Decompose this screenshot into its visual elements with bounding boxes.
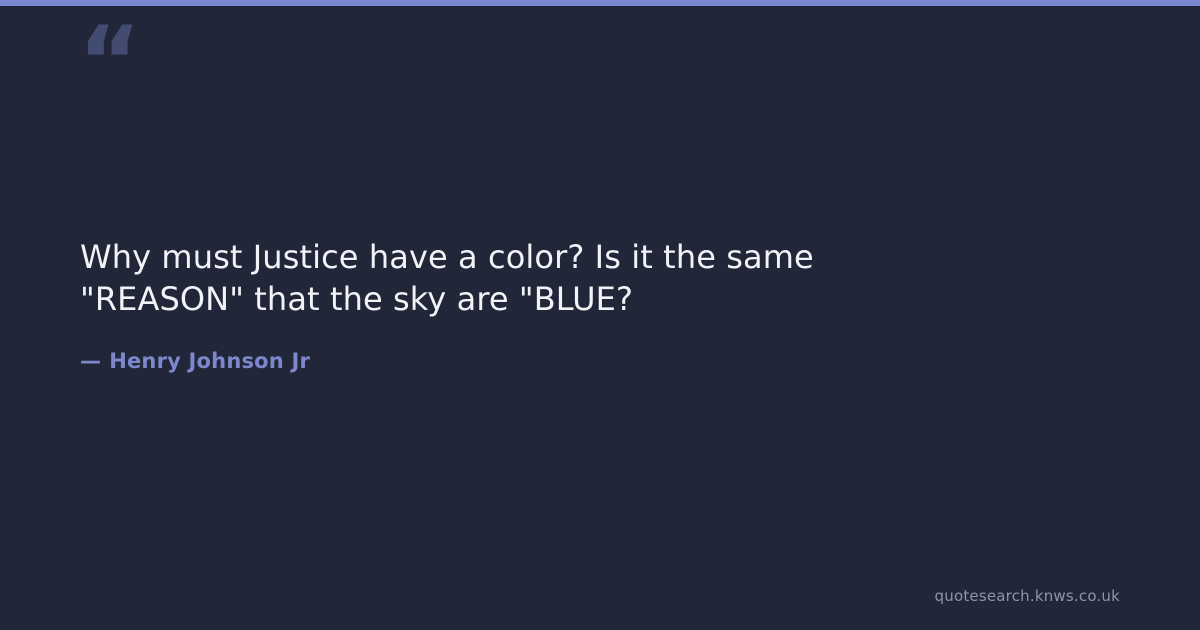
attribution-author: Henry Johnson Jr [109,349,310,373]
opening-quote-mark-icon: “ [78,14,139,110]
attribution-dash: — [80,347,101,375]
top-accent-bar [0,0,1200,6]
quote-card: “ Why must Justice have a color? Is it t… [0,0,1200,630]
quote-content-block: Why must Justice have a color? Is it the… [80,236,1080,375]
quote-text: Why must Justice have a color? Is it the… [80,236,960,320]
quote-attribution: —Henry Johnson Jr [80,320,1080,375]
source-watermark: quotesearch.knws.co.uk [935,586,1120,606]
